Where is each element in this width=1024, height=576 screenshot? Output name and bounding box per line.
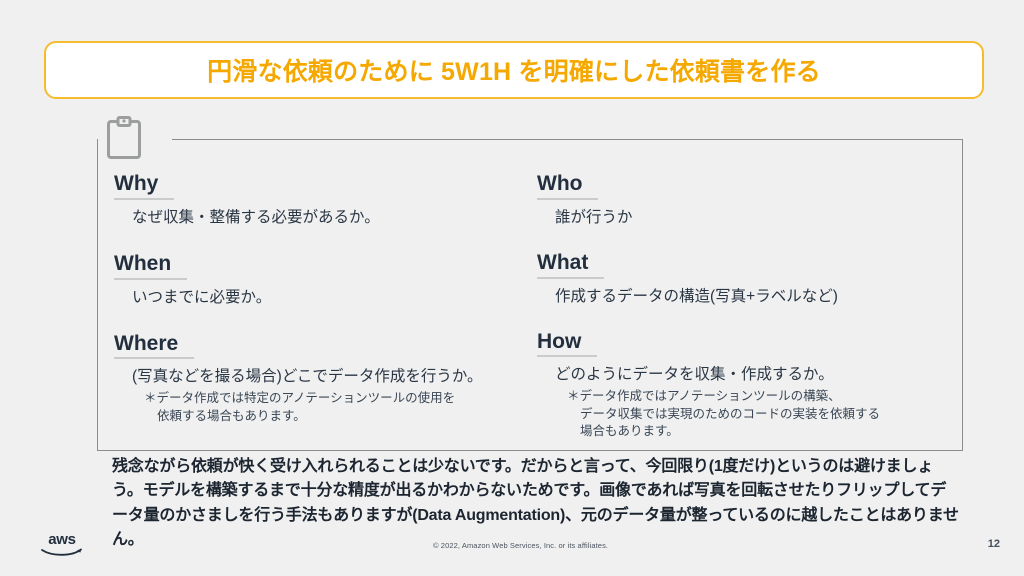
note-line: ＊データ作成では特定のアノテーションツールの使用を [144, 390, 514, 407]
spacer [114, 229, 514, 252]
summary-paragraph: 残念ながら依頼が快く受け入れられることは少ないです。だからと言って、今回限り(1… [112, 455, 960, 553]
svg-text:aws: aws [48, 531, 75, 548]
body-when: いつまでに必要か。 [132, 287, 514, 309]
page-title: 円滑な依頼のために 5W1H を明確にした依頼書を作る [207, 52, 821, 88]
spacer [114, 309, 514, 332]
heading-who: Who [537, 172, 598, 200]
note-where: ＊データ作成では特定のアノテーションツールの使用を 依頼する場合もあります。 [144, 390, 514, 425]
body-who: 誰が行うか [555, 207, 947, 229]
heading-why: Why [114, 172, 174, 200]
copyright-text: © 2022, Amazon Web Services, Inc. or its… [433, 541, 608, 550]
note-line: 依頼する場合もあります。 [144, 408, 514, 425]
note-line: 場合もあります。 [567, 423, 947, 440]
body-where: (写真などを撮る場合)どこでデータ作成を行うか。 [132, 366, 514, 388]
heading-when: When [114, 252, 187, 280]
heading-how: How [537, 330, 597, 358]
aws-logo: aws [36, 529, 88, 557]
body-why: なぜ収集・整備する必要があるか。 [132, 207, 514, 229]
content-frame-top-border [172, 139, 963, 140]
item-what: What 作成するデータの構造(写真+ラベルなど) [537, 251, 947, 308]
body-what: 作成するデータの構造(写真+ラベルなど) [555, 286, 947, 308]
item-how: How どのようにデータを収集・作成するか。 ＊データ作成ではアノテーションツー… [537, 330, 947, 441]
note-line: ＊データ作成ではアノテーションツールの構築、 [567, 388, 947, 405]
slide-title-banner: 円滑な依頼のために 5W1H を明確にした依頼書を作る [44, 41, 984, 99]
heading-what: What [537, 251, 604, 279]
item-who: Who 誰が行うか [537, 172, 947, 229]
spacer [537, 229, 947, 251]
item-why: Why なぜ収集・整備する必要があるか。 [114, 172, 514, 229]
body-how: どのようにデータを収集・作成するか。 [555, 364, 947, 386]
page-number: 12 [988, 538, 1000, 550]
heading-where: Where [114, 332, 194, 360]
column-right: Who 誰が行うか What 作成するデータの構造(写真+ラベルなど) How … [537, 172, 947, 440]
note-how: ＊データ作成ではアノテーションツールの構築、 データ収集では実現のためのコードの… [567, 388, 947, 440]
note-line: データ収集では実現のためのコードの実装を依頼する [567, 406, 947, 423]
column-left: Why なぜ収集・整備する必要があるか。 When いつまでに必要か。 Wher… [114, 172, 514, 425]
spacer [537, 308, 947, 330]
item-where: Where (写真などを撮る場合)どこでデータ作成を行うか。 ＊データ作成では特… [114, 332, 514, 425]
item-when: When いつまでに必要か。 [114, 252, 514, 309]
